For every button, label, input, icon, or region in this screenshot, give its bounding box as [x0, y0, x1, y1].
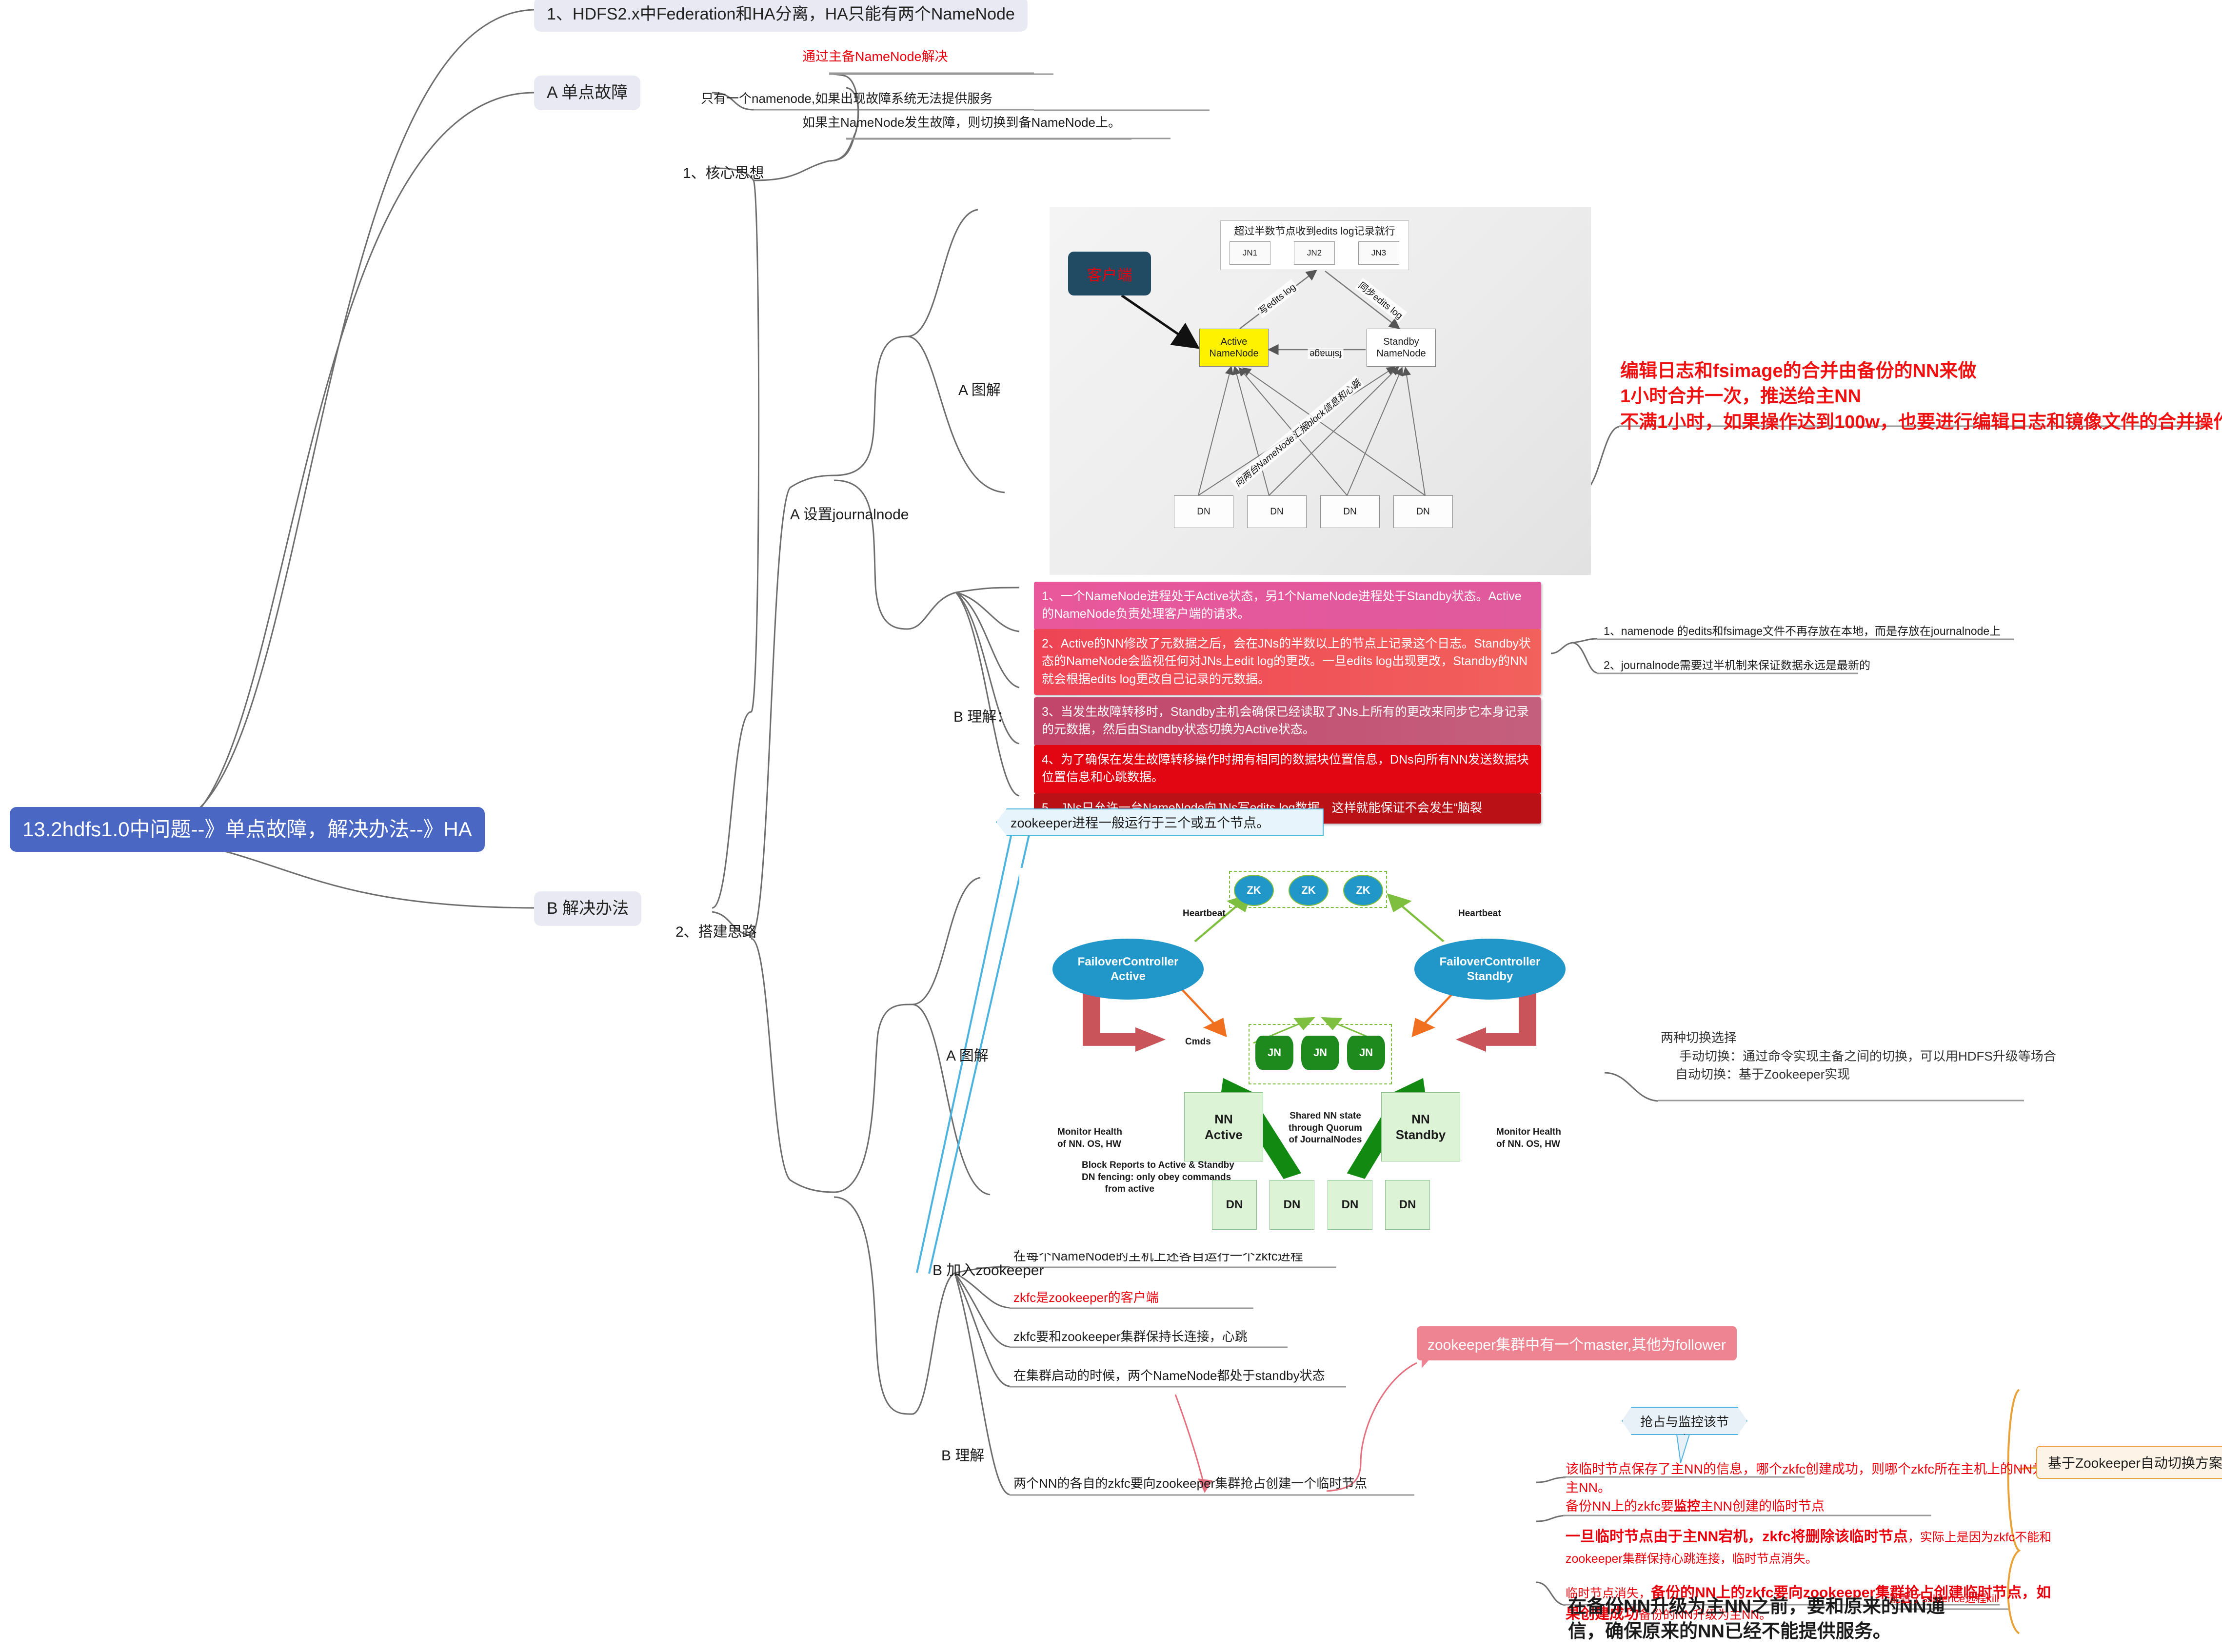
zkfc-point-3[interactable]: zkfc要和zookeeper集群保持长连接，心跳 [1013, 1329, 1248, 1345]
diagram2-jn-3: JN [1347, 1036, 1385, 1070]
root-node[interactable]: 13.2hdfs1.0中问题--》单点故障，解决办法--》HA [10, 807, 485, 852]
diagram-zk-failover: ZK ZK ZK FailoverControllerActive Failov… [1019, 868, 1600, 1253]
switch-note-auto: 自动切换：基于Zookeeper实现 [1661, 1065, 2056, 1084]
diagram1-dn-3: DN [1320, 495, 1380, 528]
zkfc-point-4[interactable]: 在集群启动的时候，两个NameNode都处于standby状态 [1013, 1368, 1325, 1384]
label-zookeeper-understand[interactable]: B 理解 [941, 1443, 984, 1465]
diagram1-jn2: JN2 [1294, 241, 1335, 265]
diagram2-failover-controller-active: FailoverControllerActive [1052, 939, 1204, 1000]
label-journalnode-diagram[interactable]: A 图解 [958, 378, 1001, 399]
diagram1-active-namenode: ActiveNameNode [1199, 329, 1269, 367]
diagram2-zk-2: ZK [1289, 875, 1329, 906]
diagram1-edge-fsimage-label: fsimage [1308, 348, 1344, 359]
merge-note-line-2: 1小时合并一次，推送给主NN [1620, 384, 2222, 409]
diagram1-client: 客户端 [1068, 252, 1151, 295]
diagram2-nn-standby: NNStandby [1381, 1092, 1460, 1161]
mindmap-canvas: 13.2hdfs1.0中问题--》单点故障，解决办法--》HA 1、HDFS2.… [0, 0, 2222, 1652]
diagram2-monitor-left: Monitor Health of NN. OS, HW [1057, 1126, 1122, 1150]
diagram2-heartbeat-right: Heartbeat [1458, 908, 1501, 920]
switch-note-title: 两种切换选择 [1661, 1029, 2056, 1047]
diagram1-quorum-title: 超过半数节点收到edits log记录就行 [1221, 223, 1409, 238]
diagram1-dn-1: DN [1174, 495, 1233, 528]
diagram1-jn1: JN1 [1230, 241, 1270, 265]
statement-bar-1[interactable]: 1、一个NameNode进程处于Active状态，另1个NameNode进程处于… [1034, 582, 1541, 630]
scheme-zookeeper-auto-switch[interactable]: 基于Zookeeper自动切换方案 [2036, 1446, 2222, 1479]
merge-note-line-3: 不满1小时，如果操作达到100w，也要进行编辑日志和镜像文件的合并操作。 [1620, 410, 2222, 435]
node-solution[interactable]: B 解决办法 [534, 891, 641, 926]
statement-bar-2[interactable]: 2、Active的NN修改了元数据之后，会在JNs的半数以上的节点上记录这个日志… [1034, 629, 1541, 695]
callout-zookeeper-master[interactable]: zookeeper集群中有一个master,其他为follower [1417, 1326, 1737, 1360]
temp-node-note-line-2: 主NN。 [1566, 1479, 2083, 1497]
temp-node-note-line-3: 备份NN上的zkfc要监控主NN创建的临时节点 [1566, 1497, 2083, 1516]
diagram1-dn-4: DN [1393, 495, 1453, 528]
zkfc-point-2[interactable]: zkfc是zookeeper的客户端 [1013, 1290, 1159, 1306]
diagram2-monitor-right: Monitor Health of NN. OS, HW [1496, 1126, 1561, 1150]
node-core-idea-line2[interactable]: 如果主NameNode发生故障，则切换到备NameNode上。 [802, 115, 1121, 131]
zkfc-point-5[interactable]: 两个NN的各自的zkfc要向zookeeper集群抢占创建一个临时节点 [1013, 1475, 1367, 1492]
diagram2-jn-2: JN [1301, 1036, 1339, 1070]
diagram2-nn-active: NNActive [1184, 1092, 1263, 1161]
crash-note[interactable]: 一旦临时节点由于主NN宕机，zkfc将删除该临时节点，实际上是因为zkfc不能和… [1566, 1526, 2063, 1569]
label-journalnode-understand[interactable]: B 理解： [953, 705, 1011, 726]
diagram-hdfs-ha: 客户端 超过半数节点收到edits log记录就行 JN1 JN2 JN3 Ac… [1050, 207, 1591, 575]
node-federation[interactable]: 1、HDFS2.x中Federation和HA分离，HA只能有两个NameNod… [534, 0, 1028, 32]
diagram2-jn-group: JN JN JN [1249, 1024, 1392, 1084]
statement-bar-4[interactable]: 4、为了确保在发生故障转移操作时拥有相同的数据块位置信息，DNs向所有NN发送数… [1034, 745, 1541, 793]
node-single-point-failure[interactable]: A 单点故障 [534, 76, 640, 110]
diagram1-dn-2: DN [1247, 495, 1307, 528]
diagram2-heartbeat-left: Heartbeat [1183, 908, 1226, 920]
merge-note-line-1: 编辑日志和fsimage的合并由备份的NN来做 [1620, 358, 2222, 384]
diagram2-zk-1: ZK [1234, 875, 1274, 906]
diagram2-cmds: Cmds [1185, 1036, 1211, 1048]
diagram1-jn3: JN3 [1358, 241, 1399, 265]
crash-note-bold: 一旦临时节点由于主NN宕机，zkfc将删除该临时节点 [1566, 1529, 1908, 1545]
temp-node-note[interactable]: 该临时节点保存了主NN的信息，哪个zkfc创建成功，则哪个zkfc所在主机上的N… [1566, 1460, 2083, 1515]
label-set-journalnode[interactable]: A 设置journalnode [790, 502, 909, 524]
node-spof-detail[interactable]: 只有一个namenode,如果出现故障系统无法提供服务 [701, 91, 992, 107]
diagram2-dn-3: DN [1328, 1180, 1372, 1230]
diagram2-block-reports: Block Reports to Active & Standby DN fen… [1082, 1160, 1234, 1196]
statement-bar-3[interactable]: 3、当发生故障转移时，Standby主机会确保已经读取了JNs上所有的更改来同步… [1034, 697, 1541, 746]
journalnode-side-note-1[interactable]: 1、namenode 的edits和fsimage文件不再存放在本地，而是存放在… [1604, 624, 2001, 638]
diagram2-zk-group: ZK ZK ZK [1229, 871, 1387, 908]
label-core-idea[interactable]: 1、核心思想 [683, 161, 764, 182]
callout-seize-monitor[interactable]: 抢占与监控该节点 [1622, 1407, 1747, 1435]
journalnode-side-note-2[interactable]: 2、journalnode需要过半机制来保证数据永远是最新的 [1604, 658, 1870, 672]
diagram2-dn-4: DN [1385, 1180, 1430, 1230]
callout-zookeeper-nodes[interactable]: zookeeper进程一般运行于三个或五个节点。 [996, 808, 1324, 836]
switch-note[interactable]: 两种切换选择 手动切换：通过命令实现主备之间的切换，可以用HDFS升级等场合 自… [1661, 1029, 2056, 1084]
label-zookeeper-diagram[interactable]: A 图解 [946, 1043, 989, 1065]
label-build-plan[interactable]: 2、搭建思路 [675, 920, 757, 941]
diagram2-zk-3: ZK [1343, 875, 1383, 906]
diagram1-journalnode-group: 超过半数节点收到edits log记录就行 JN1 JN2 JN3 [1220, 220, 1409, 270]
diagram2-shared-state: Shared NN state through Quorum of Journa… [1289, 1110, 1362, 1146]
diagram2-failover-controller-standby: FailoverControllerStandby [1414, 939, 1566, 1000]
temp-node-note-line-1: 该临时节点保存了主NN的信息，哪个zkfc创建成功，则哪个zkfc所在主机上的N… [1566, 1460, 2083, 1479]
sshfence-note[interactable]: 配置了sshfence远程kill [1890, 1592, 1999, 1606]
diagram2-dn-2: DN [1270, 1180, 1314, 1230]
node-core-idea-line1[interactable]: 通过主备NameNode解决 [802, 49, 948, 65]
diagram2-jn-1: JN [1255, 1036, 1293, 1070]
diagram1-standby-namenode: StandbyNameNode [1367, 329, 1436, 367]
switch-note-manual: 手动切换：通过命令实现主备之间的切换，可以用HDFS升级等场合 [1661, 1047, 2056, 1066]
merge-note[interactable]: 编辑日志和fsimage的合并由备份的NN来做 1小时合并一次，推送给主NN 不… [1620, 358, 2222, 435]
